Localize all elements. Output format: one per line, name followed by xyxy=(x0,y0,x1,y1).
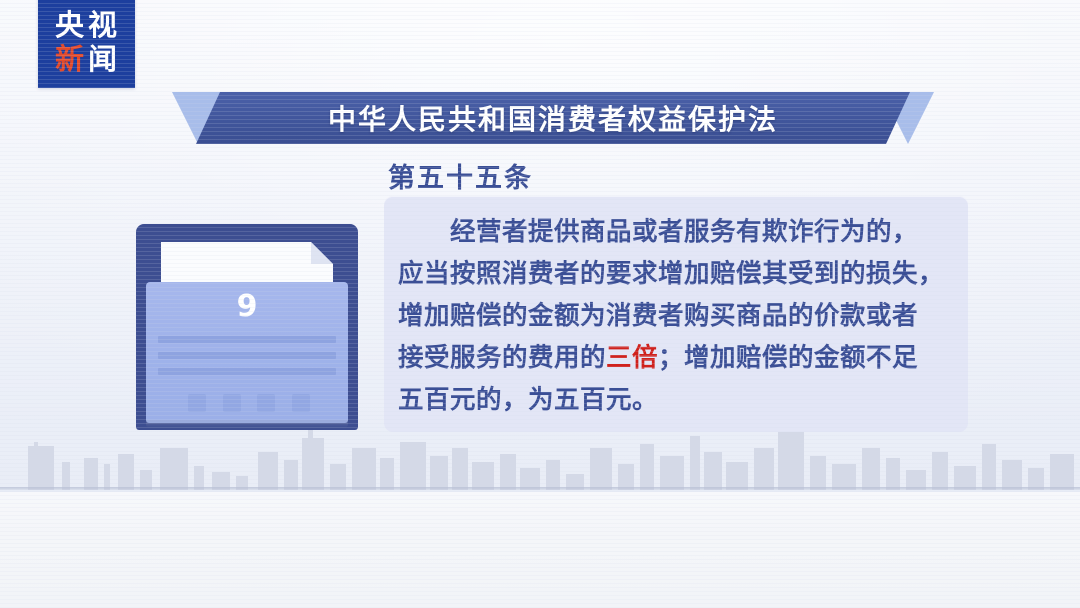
law-text-before-highlight: 接受服务的费用的 xyxy=(398,343,606,373)
law-text-content: 经营者提供商品或者服务有欺诈行为的， 应当按照消费者的要求增加赔偿其受到的损失，… xyxy=(384,203,968,429)
law-text-line: 五百元的，为五百元。 xyxy=(398,379,954,421)
folder-text-stripe-2 xyxy=(158,352,336,359)
folder-front-pocket: 9 xyxy=(146,282,348,423)
folder-square-mark xyxy=(292,394,310,412)
document-folder-illustration: 9 xyxy=(136,224,358,430)
article-number-label: 第五十五条 xyxy=(388,156,533,195)
law-text-line: 增加赔偿的金额为消费者购买商品的价款或者 xyxy=(398,295,954,337)
broadcast-graphic-slide: 央 视 新 闻 中华人民共和国消费者权益保护法 第五十五条 9 xyxy=(0,0,1080,608)
folder-square-mark xyxy=(188,394,206,412)
folder-square-mark xyxy=(223,394,241,412)
logo-char-xin: 新 xyxy=(54,45,87,74)
law-title-banner: 中华人民共和国消费者权益保护法 xyxy=(172,92,934,144)
law-text-line: 应当按照消费者的要求增加赔偿其受到的损失， xyxy=(398,253,954,295)
horizon-line xyxy=(0,487,1080,490)
logo-char-wen: 闻 xyxy=(87,45,120,74)
background-ground xyxy=(0,492,1080,608)
channel-logo-line-1: 央 视 xyxy=(54,11,120,40)
folder-text-stripe-3 xyxy=(158,368,336,375)
logo-char-yang: 央 xyxy=(54,11,87,40)
law-title-text: 中华人民共和国消费者权益保护法 xyxy=(172,92,934,144)
law-text-after-highlight: ；增加赔偿的金额不足 xyxy=(658,343,918,373)
folder-seal-glyph: 9 xyxy=(146,292,348,322)
folder-square-marks xyxy=(188,394,310,412)
triple-damages-highlight: 三倍 xyxy=(606,343,658,373)
channel-logo-line-2: 新 闻 xyxy=(54,45,120,74)
channel-logo: 央 视 新 闻 xyxy=(38,0,135,88)
law-text-line-with-highlight: 接受服务的费用的三倍；增加赔偿的金额不足 xyxy=(398,337,954,379)
folder-text-stripe-1 xyxy=(158,336,336,343)
folder-square-mark xyxy=(257,394,275,412)
law-text-line: 经营者提供商品或者服务有欺诈行为的， xyxy=(398,211,954,253)
folder-base-shadow xyxy=(146,420,348,428)
logo-char-shi: 视 xyxy=(87,11,120,40)
